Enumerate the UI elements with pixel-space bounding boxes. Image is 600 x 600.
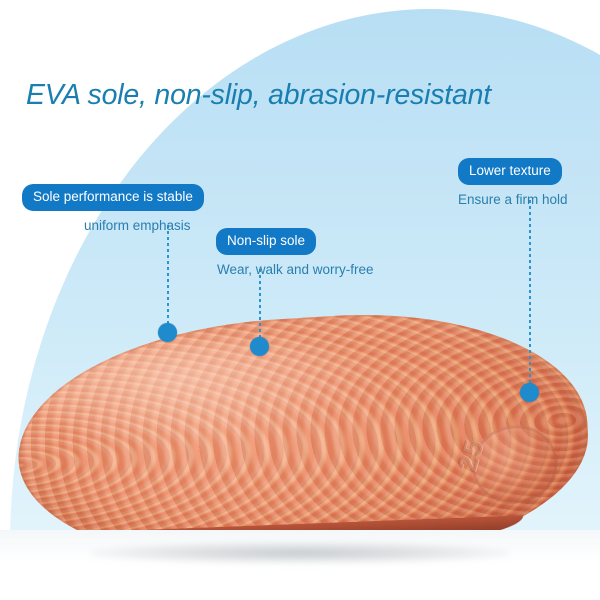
callout-1-badge-clip: Sole performance is stable: [22, 184, 207, 211]
callout-2-subtitle: Wear, walk and worry-free: [217, 262, 374, 277]
callout-1-subtitle: uniform emphasis: [84, 218, 207, 233]
callout-non-slip-sole: Non-slip sole Wear, walk and worry-free: [216, 228, 374, 277]
callout-3-badge: Lower texture: [458, 158, 562, 185]
callout-sole-performance: Sole performance is stable uniform empha…: [22, 184, 207, 233]
marker-dot-2: [250, 337, 269, 356]
infographic-canvas: 25 EVA sole, non-slip, abrasion-resistan…: [0, 0, 600, 600]
marker-dot-1: [158, 323, 177, 342]
floor-surface: [0, 530, 600, 600]
connector-line-2: [259, 269, 261, 341]
connector-line-3: [529, 200, 531, 388]
floor-shadow: [90, 542, 510, 564]
callout-3-subtitle: Ensure a firm hold: [458, 192, 568, 207]
callout-lower-texture: Lower texture Ensure a firm hold: [458, 158, 568, 207]
page-title: EVA sole, non-slip, abrasion-resistant: [26, 79, 586, 112]
callout-2-badge: Non-slip sole: [216, 228, 316, 255]
connector-line-1: [167, 225, 169, 327]
callout-1-badge: Sole performance is stable: [22, 184, 204, 211]
marker-dot-3: [520, 383, 539, 402]
